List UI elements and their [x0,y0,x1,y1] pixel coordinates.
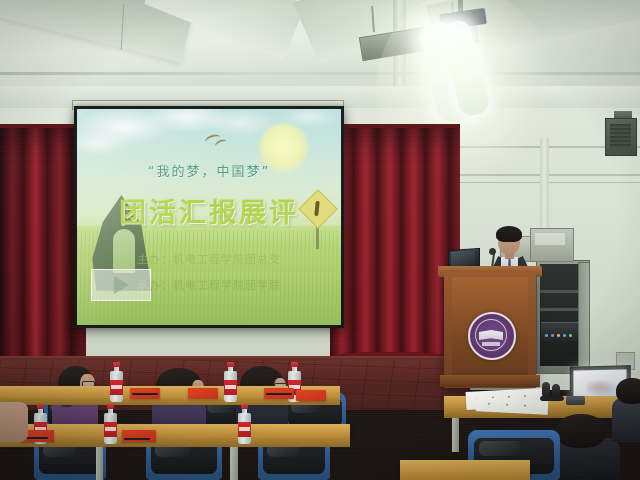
person-head [616,378,640,404]
person-torso [612,398,640,442]
led-indicator [545,334,548,337]
water-bottle [224,362,237,402]
projection-screen-frame: “我的梦，中国梦” 团活汇报展评 主办：机电工程学院团总支 承办：机电工程学院团… [74,106,344,328]
bottle-label-text [111,385,122,389]
bottle-label-text [239,427,250,431]
speaker-grill [610,124,631,148]
desk-leg [96,447,103,480]
rack-shelf [540,290,580,293]
rack-shelf [540,308,580,311]
bottle-cap [241,404,248,409]
mobile-phone [566,396,585,405]
amplifier-unit [541,322,579,341]
hair [616,378,640,404]
ceiling-lamp [406,0,516,118]
led-indicator [569,334,572,337]
bottle-cap [291,362,298,367]
slide-title: 团活汇报展评 [77,191,341,230]
wall-speaker-icon [605,118,637,156]
hair [556,414,606,448]
desk-leg [230,447,238,480]
video-play-button[interactable] [91,269,151,301]
wall-pillar [540,138,549,230]
red-notebook [188,388,218,399]
slide-subtitle: “我的梦，中国梦” [77,161,341,180]
ceiling-edge [0,72,640,75]
water-bottle [238,404,251,444]
red-notebook [296,390,326,401]
pen [124,438,150,440]
projection-screen: “我的梦，中国梦” 团活汇报展评 主办：机电工程学院团总支 承办：机电工程学院团… [77,109,341,325]
podium-laptop-screen [451,250,475,267]
presenter-hair [496,226,522,242]
auditorium-photo: “我的梦，中国梦” 团活汇报展评 主办：机电工程学院团总支 承办：机电工程学院团… [0,0,640,480]
person-arm [0,402,28,442]
pen [266,393,292,395]
bottle-cap [107,404,114,409]
led-indicator [557,334,560,337]
control-box-label [535,233,565,245]
laptop-slide-content [586,380,616,396]
university-emblem [468,312,516,360]
rack-interior [540,264,580,366]
water-bottle [110,362,123,402]
emblem-year-band [482,342,500,346]
play-icon [114,276,129,294]
audience-desk [400,460,530,480]
bottle-label-text [225,385,236,389]
microphone-icon [489,248,496,255]
bottle-cap [37,404,44,409]
person-head [556,414,606,448]
desk-leg [452,418,459,452]
led-indicator [551,334,554,337]
stage-curtain-right [330,128,460,360]
slide-organizer-line: 主办：机电工程学院团总支 [77,251,341,267]
podium-base [440,375,540,387]
bottle-cap [113,362,120,367]
pen [132,393,158,395]
water-bottle [104,404,117,444]
desk-microphone-icon [552,384,560,398]
red-notebook [122,430,156,442]
bottle-label-text [105,427,116,431]
control-box [530,228,574,262]
chair-highlight [479,441,521,456]
bottle-cap [227,362,234,367]
led-indicator [563,334,566,337]
desk-microphone-icon [542,382,550,398]
rack-door[interactable] [578,262,590,370]
